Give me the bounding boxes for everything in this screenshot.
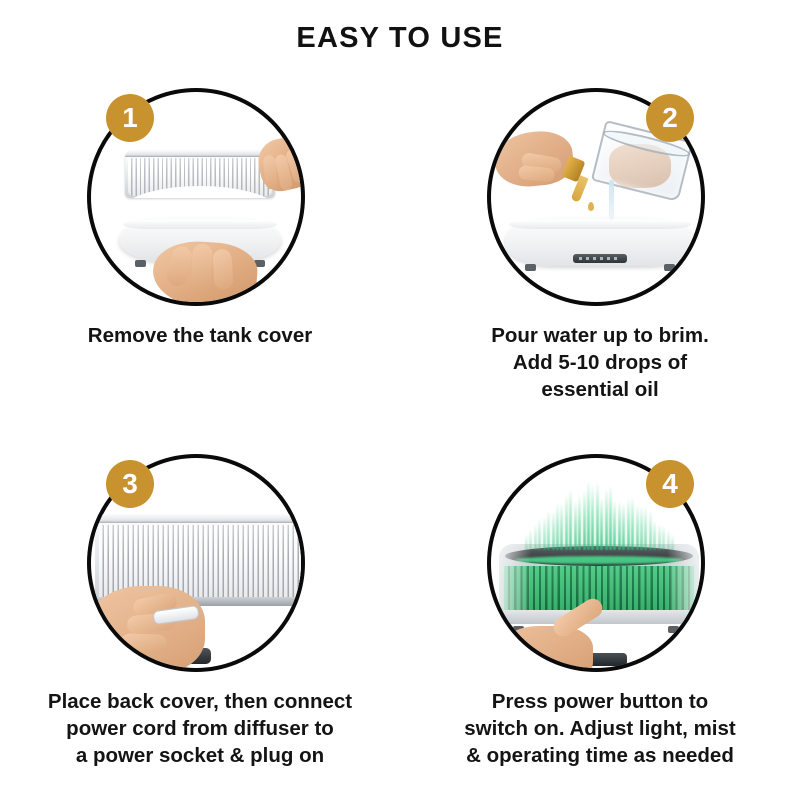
mist-streak [609,485,612,550]
mist-streak [538,518,541,550]
caption-line: Remove the tank cover [6,322,394,349]
step-1-caption: Remove the tank cover [0,322,400,349]
mist-streak [662,525,665,550]
step-card-3: 3 Place back cover, then connect power c… [0,444,400,769]
mist-streak [640,506,643,550]
mist-streak [605,489,608,550]
page-title: EASY TO USE [0,22,800,55]
caption-line: Pour water up to brim. [406,322,794,349]
mist-streak [534,524,537,550]
finger [121,633,168,653]
caption-line: Add 5-10 drops of [406,349,794,376]
water-stream [609,180,614,220]
mist-streak [636,504,639,550]
finger [165,244,194,288]
mist-streak [543,516,546,550]
caption-line: essential oil [406,376,794,403]
base-foot [525,264,536,271]
mist-streak [658,524,661,550]
mist-streak [556,502,559,550]
finger [518,165,555,183]
diffuser-base-open [505,218,695,266]
caption-line: Press power button to [406,688,794,715]
mist-streak [578,495,581,550]
mist-streak [618,501,621,550]
hand-pressing-button [497,626,593,672]
hand-holding-dropper [492,128,575,190]
mist-streak [600,497,603,550]
step-card-1: 1 Remove the tank cover [0,78,400,349]
mist-streak [667,530,670,550]
step-3-caption: Place back cover, then connect power cor… [0,688,400,769]
mist-streak [569,488,572,550]
step-2-illustration: 2 [484,78,716,310]
caption-line: power cord from diffuser to [6,715,394,742]
diffuser-base-lip [123,220,277,229]
mist-streak [613,500,616,550]
step-number-badge-1: 1 [106,94,154,142]
base-foot [664,264,675,271]
step-number-badge-4: 4 [646,460,694,508]
mist-streak [631,496,634,551]
mist-streak [525,534,528,550]
mist-streak [653,520,656,550]
step-card-4: 4 Press power button to switch on. Adjus… [400,444,800,769]
finger [212,249,234,290]
diffuser-base-lip [509,220,691,229]
mist-streak [587,480,590,550]
essential-oil-drop [588,202,594,211]
step-number-badge-3: 3 [106,460,154,508]
mist-streak [644,506,647,550]
step-4-illustration: 4 [484,444,716,676]
step-3-illustration: 3 [84,444,316,676]
step-2-caption: Pour water up to brim. Add 5-10 drops of… [400,322,800,403]
caption-line: a power socket & plug on [6,742,394,769]
mist-streak [529,529,532,550]
step-4-caption: Press power button to switch on. Adjust … [400,688,800,769]
base-foot [668,626,679,633]
mist-streak [574,501,577,550]
mist-streak [552,511,555,550]
mist-streak [596,482,599,550]
step-1-illustration: 1 [84,78,316,310]
step-card-2: 2 Pour water up to brim. Add 5-10 drops … [400,78,800,403]
mist-streak [622,503,625,550]
caption-line: switch on. Adjust light, mist [406,715,794,742]
mist-streak [591,485,594,550]
mist-streak [560,503,563,550]
mist-streak [671,534,674,550]
mist-streak [583,490,586,550]
caption-line: Place back cover, then connect [6,688,394,715]
mist-streak [547,510,550,550]
base-foot [135,260,146,267]
mist-streak [565,494,568,550]
mist-streak [649,510,652,550]
finger [190,243,213,288]
caption-line: & operating time as needed [406,742,794,769]
tank-cover [125,150,275,198]
step-number-badge-2: 2 [646,94,694,142]
mist-streak [627,498,630,550]
control-panel-strip [573,254,627,263]
hand-inserting-plug [87,586,205,672]
